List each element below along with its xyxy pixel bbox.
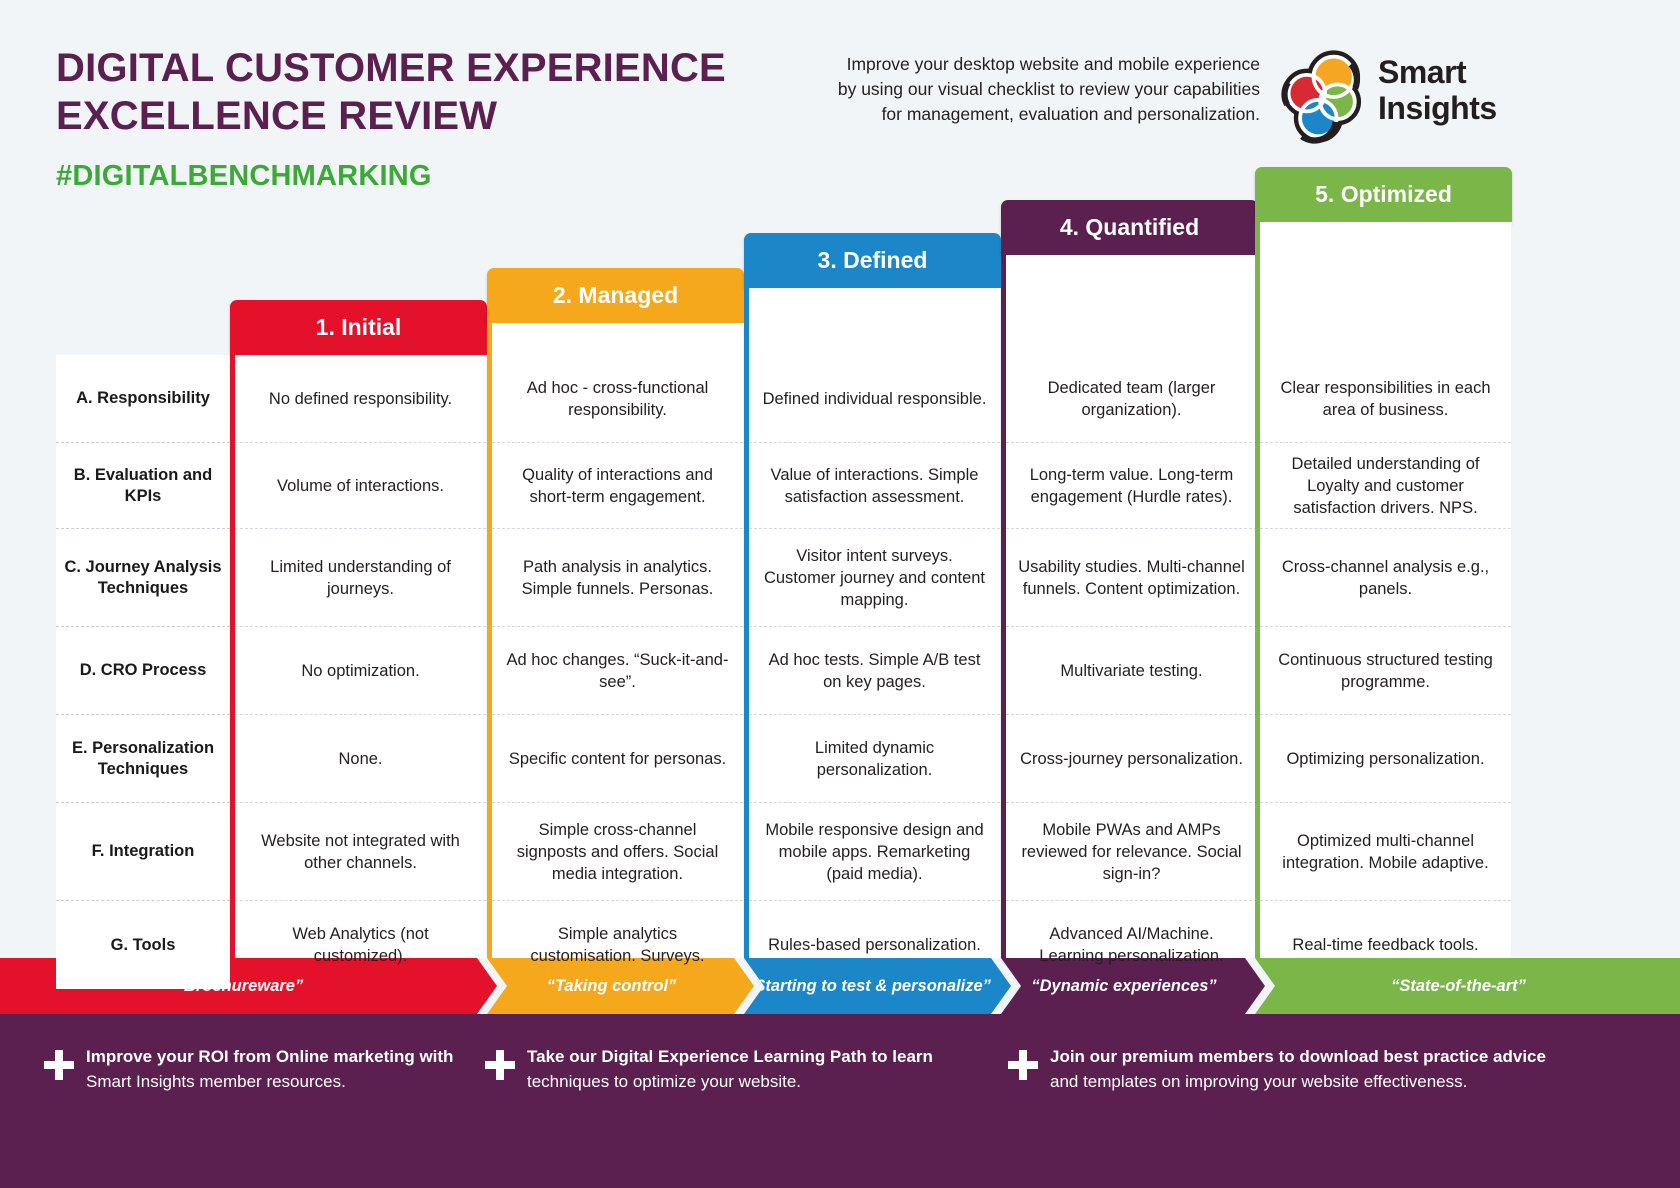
cell-e-3: Limited dynamic personalization. bbox=[749, 715, 1000, 803]
title-line-2: EXCELLENCE REVIEW bbox=[56, 92, 726, 140]
column-body-5: Clear responsibilities in each area of b… bbox=[1255, 222, 1512, 958]
plus-icon bbox=[1008, 1050, 1038, 1080]
column-body-3: Defined individual responsible.Value of … bbox=[744, 288, 1001, 958]
cell-g-2: Simple analytics customisation. Surveys. bbox=[492, 901, 743, 989]
plus-icon bbox=[44, 1050, 74, 1080]
column-header-1: 1. Initial bbox=[230, 300, 487, 355]
column-header-3: 3. Defined bbox=[744, 233, 1001, 288]
column-spacer bbox=[1006, 255, 1257, 355]
cell-b-5: Detailed understanding of Loyalty and cu… bbox=[1260, 443, 1511, 529]
logo-circles-icon bbox=[1278, 48, 1374, 144]
logo-wordmark: Smart Insights bbox=[1378, 54, 1497, 126]
cell-g-1: Web Analytics (not customized). bbox=[235, 901, 486, 989]
cell-c-1: Limited understanding of journeys. bbox=[235, 529, 486, 627]
infographic-page: DIGITAL CUSTOMER EXPERIENCE EXCELLENCE R… bbox=[0, 0, 1680, 1188]
row-label-c: C. Journey Analysis Techniques bbox=[56, 529, 230, 627]
cell-b-1: Volume of interactions. bbox=[235, 443, 486, 529]
column-spacer bbox=[1260, 222, 1511, 355]
footer-item-text-1: Improve your ROI from Online marketing w… bbox=[86, 1044, 453, 1094]
intro-line-1: Improve your desktop website and mobile … bbox=[830, 52, 1260, 77]
footer-line-2: and templates on improving your website … bbox=[1050, 1069, 1546, 1094]
row-label-f: F. Integration bbox=[56, 803, 230, 901]
cell-f-4: Mobile PWAs and AMPs reviewed for releva… bbox=[1006, 803, 1257, 901]
column-body-1: No defined responsibility.Volume of inte… bbox=[230, 355, 487, 958]
cell-a-4: Dedicated team (larger organization). bbox=[1006, 355, 1257, 443]
cell-c-4: Usability studies. Multi-channel funnels… bbox=[1006, 529, 1257, 627]
footer-item-1[interactable]: Improve your ROI from Online marketing w… bbox=[44, 1044, 464, 1094]
column-header-4: 4. Quantified bbox=[1001, 200, 1258, 255]
footer-item-3[interactable]: Join our premium members to download bes… bbox=[1008, 1044, 1608, 1094]
row-label-d: D. CRO Process bbox=[56, 627, 230, 715]
cell-a-5: Clear responsibilities in each area of b… bbox=[1260, 355, 1511, 443]
column-spacer bbox=[492, 323, 743, 355]
cell-g-5: Real-time feedback tools. bbox=[1260, 901, 1511, 989]
cell-f-3: Mobile responsive design and mobile apps… bbox=[749, 803, 1000, 901]
column-header-2: 2. Managed bbox=[487, 268, 744, 323]
intro-line-2: by using our visual checklist to review … bbox=[830, 77, 1260, 102]
cell-f-2: Simple cross-channel signposts and offer… bbox=[492, 803, 743, 901]
footer-line-1: Take our Digital Experience Learning Pat… bbox=[527, 1044, 933, 1069]
title-line-1: DIGITAL CUSTOMER EXPERIENCE bbox=[56, 44, 726, 92]
cell-e-5: Optimizing personalization. bbox=[1260, 715, 1511, 803]
cell-g-4: Advanced AI/Machine. Learning personaliz… bbox=[1006, 901, 1257, 989]
cell-a-1: No defined responsibility. bbox=[235, 355, 486, 443]
row-label-a: A. Responsibility bbox=[56, 355, 230, 443]
cell-g-3: Rules-based personalization. bbox=[749, 901, 1000, 989]
cell-b-4: Long-term value. Long-term engagement (H… bbox=[1006, 443, 1257, 529]
cell-b-3: Value of interactions. Simple satisfacti… bbox=[749, 443, 1000, 529]
footer-line-2: Smart Insights member resources. bbox=[86, 1069, 453, 1094]
logo-text-line-1: Smart bbox=[1378, 54, 1497, 90]
cell-e-1: None. bbox=[235, 715, 486, 803]
plus-icon bbox=[485, 1050, 515, 1080]
row-label-column: A. ResponsibilityB. Evaluation and KPIsC… bbox=[56, 355, 230, 989]
cell-e-2: Specific content for personas. bbox=[492, 715, 743, 803]
page-title: DIGITAL CUSTOMER EXPERIENCE EXCELLENCE R… bbox=[56, 44, 726, 140]
footer-item-text-2: Take our Digital Experience Learning Pat… bbox=[527, 1044, 933, 1094]
row-label-b: B. Evaluation and KPIs bbox=[56, 443, 230, 529]
cell-d-3: Ad hoc tests. Simple A/B test on key pag… bbox=[749, 627, 1000, 715]
cell-c-5: Cross-channel analysis e.g., panels. bbox=[1260, 529, 1511, 627]
footer-item-text-3: Join our premium members to download bes… bbox=[1050, 1044, 1546, 1094]
cell-d-4: Multivariate testing. bbox=[1006, 627, 1257, 715]
smart-insights-logo: Smart Insights bbox=[1278, 46, 1483, 146]
row-label-g: G. Tools bbox=[56, 901, 230, 989]
footer-line-2: techniques to optimize your website. bbox=[527, 1069, 933, 1094]
footer-line-1: Join our premium members to download bes… bbox=[1050, 1044, 1546, 1069]
column-header-5: 5. Optimized bbox=[1255, 167, 1512, 222]
footer-line-1: Improve your ROI from Online marketing w… bbox=[86, 1044, 453, 1069]
footer-item-2[interactable]: Take our Digital Experience Learning Pat… bbox=[485, 1044, 985, 1094]
row-label-e: E. Personalization Techniques bbox=[56, 715, 230, 803]
cell-f-5: Optimized multi-channel integration. Mob… bbox=[1260, 803, 1511, 901]
footer: Improve your ROI from Online marketing w… bbox=[0, 1014, 1680, 1188]
column-spacer bbox=[749, 288, 1000, 355]
cell-c-2: Path analysis in analytics. Simple funne… bbox=[492, 529, 743, 627]
cell-d-1: No optimization. bbox=[235, 627, 486, 715]
header: DIGITAL CUSTOMER EXPERIENCE EXCELLENCE R… bbox=[0, 0, 1680, 160]
intro-line-3: for management, evaluation and personali… bbox=[830, 102, 1260, 127]
cell-e-4: Cross-journey personalization. bbox=[1006, 715, 1257, 803]
cell-a-2: Ad hoc - cross-functional responsibility… bbox=[492, 355, 743, 443]
cell-b-2: Quality of interactions and short-term e… bbox=[492, 443, 743, 529]
cell-a-3: Defined individual responsible. bbox=[749, 355, 1000, 443]
cell-f-1: Website not integrated with other channe… bbox=[235, 803, 486, 901]
cell-d-2: Ad hoc changes. “Suck-it-and-see”. bbox=[492, 627, 743, 715]
cell-d-5: Continuous structured testing programme. bbox=[1260, 627, 1511, 715]
logo-text-line-2: Insights bbox=[1378, 90, 1497, 126]
cell-c-3: Visitor intent surveys. Customer journey… bbox=[749, 529, 1000, 627]
column-body-4: Dedicated team (larger organization).Lon… bbox=[1001, 255, 1258, 958]
intro-text: Improve your desktop website and mobile … bbox=[830, 52, 1260, 127]
column-body-2: Ad hoc - cross-functional responsibility… bbox=[487, 323, 744, 958]
